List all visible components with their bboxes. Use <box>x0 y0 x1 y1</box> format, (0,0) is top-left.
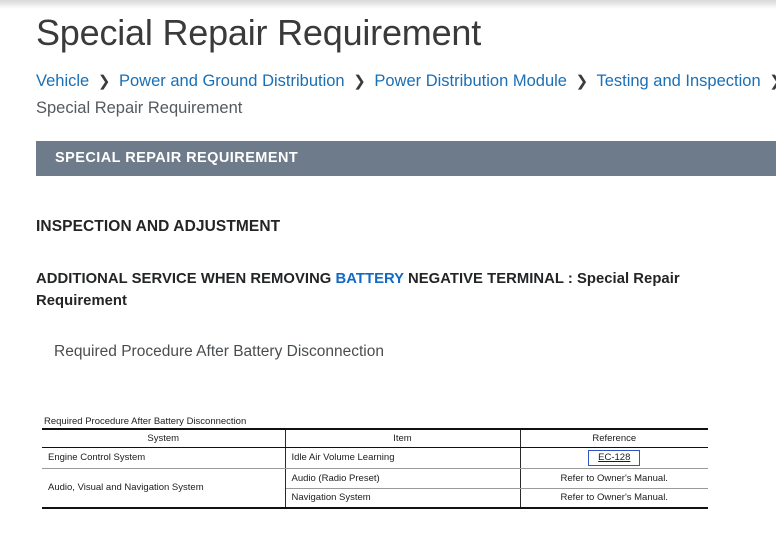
section-banner-label: SPECIAL REPAIR REQUIREMENT <box>55 141 298 176</box>
page-title: Special Repair Requirement <box>36 10 481 56</box>
heading-additional-text-before: ADDITIONAL SERVICE WHEN REMOVING <box>36 271 336 287</box>
document-page: Special Repair Requirement Vehicle ❯ Pow… <box>0 0 776 536</box>
section-banner: SPECIAL REPAIR REQUIREMENT <box>36 141 776 176</box>
chevron-right-icon: ❯ <box>572 73 593 90</box>
battery-link[interactable]: BATTERY <box>336 271 404 287</box>
cell-system-audio-visual-navigation: Audio, Visual and Navigation System <box>42 468 285 508</box>
breadcrumb-item-power-and-ground-distribution[interactable]: Power and Ground Distribution <box>119 72 345 90</box>
ec-128-link[interactable]: EC-128 <box>588 450 640 466</box>
breadcrumb-item-testing-and-inspection[interactable]: Testing and Inspection <box>596 72 760 90</box>
chevron-right-icon: ❯ <box>94 73 115 90</box>
table-row: Engine Control System Idle Air Volume Le… <box>42 447 708 468</box>
cell-item-audio-radio-preset: Audio (Radio Preset) <box>285 468 520 488</box>
table-header-row: System Item Reference <box>42 429 708 447</box>
breadcrumb-item-special-repair-requirement: Special Repair Requirement <box>36 99 242 117</box>
required-procedure-table: System Item Reference Engine Control Sys… <box>42 428 708 509</box>
header-shadow-strip <box>0 0 776 9</box>
breadcrumb: Vehicle ❯ Power and Ground Distribution … <box>36 68 776 121</box>
heading-additional-service: ADDITIONAL SERVICE WHEN REMOVING BATTERY… <box>36 268 748 312</box>
breadcrumb-item-vehicle[interactable]: Vehicle <box>36 72 89 90</box>
heading-inspection-and-adjustment: INSPECTION AND ADJUSTMENT <box>36 218 280 236</box>
cell-item-idle-air-volume-learning: Idle Air Volume Learning <box>285 447 520 468</box>
table-header-reference: Reference <box>520 429 708 447</box>
chevron-right-icon: ❯ <box>765 73 776 90</box>
cell-reference-ec-128: EC-128 <box>520 447 708 468</box>
cell-reference-owners-manual: Refer to Owner's Manual. <box>520 488 708 508</box>
table-header-system: System <box>42 429 285 447</box>
cell-item-navigation-system: Navigation System <box>285 488 520 508</box>
figure-required-procedure: Required Procedure After Battery Disconn… <box>42 415 708 509</box>
figure-caption: Required Procedure After Battery Disconn… <box>42 415 708 428</box>
chevron-right-icon: ❯ <box>349 73 370 90</box>
subsection-label-required-procedure: Required Procedure After Battery Disconn… <box>54 343 384 361</box>
breadcrumb-item-power-distribution-module[interactable]: Power Distribution Module <box>374 72 567 90</box>
table-row: Audio, Visual and Navigation System Audi… <box>42 468 708 488</box>
table-header-item: Item <box>285 429 520 447</box>
cell-reference-owners-manual: Refer to Owner's Manual. <box>520 468 708 488</box>
cell-system-engine-control: Engine Control System <box>42 447 285 468</box>
